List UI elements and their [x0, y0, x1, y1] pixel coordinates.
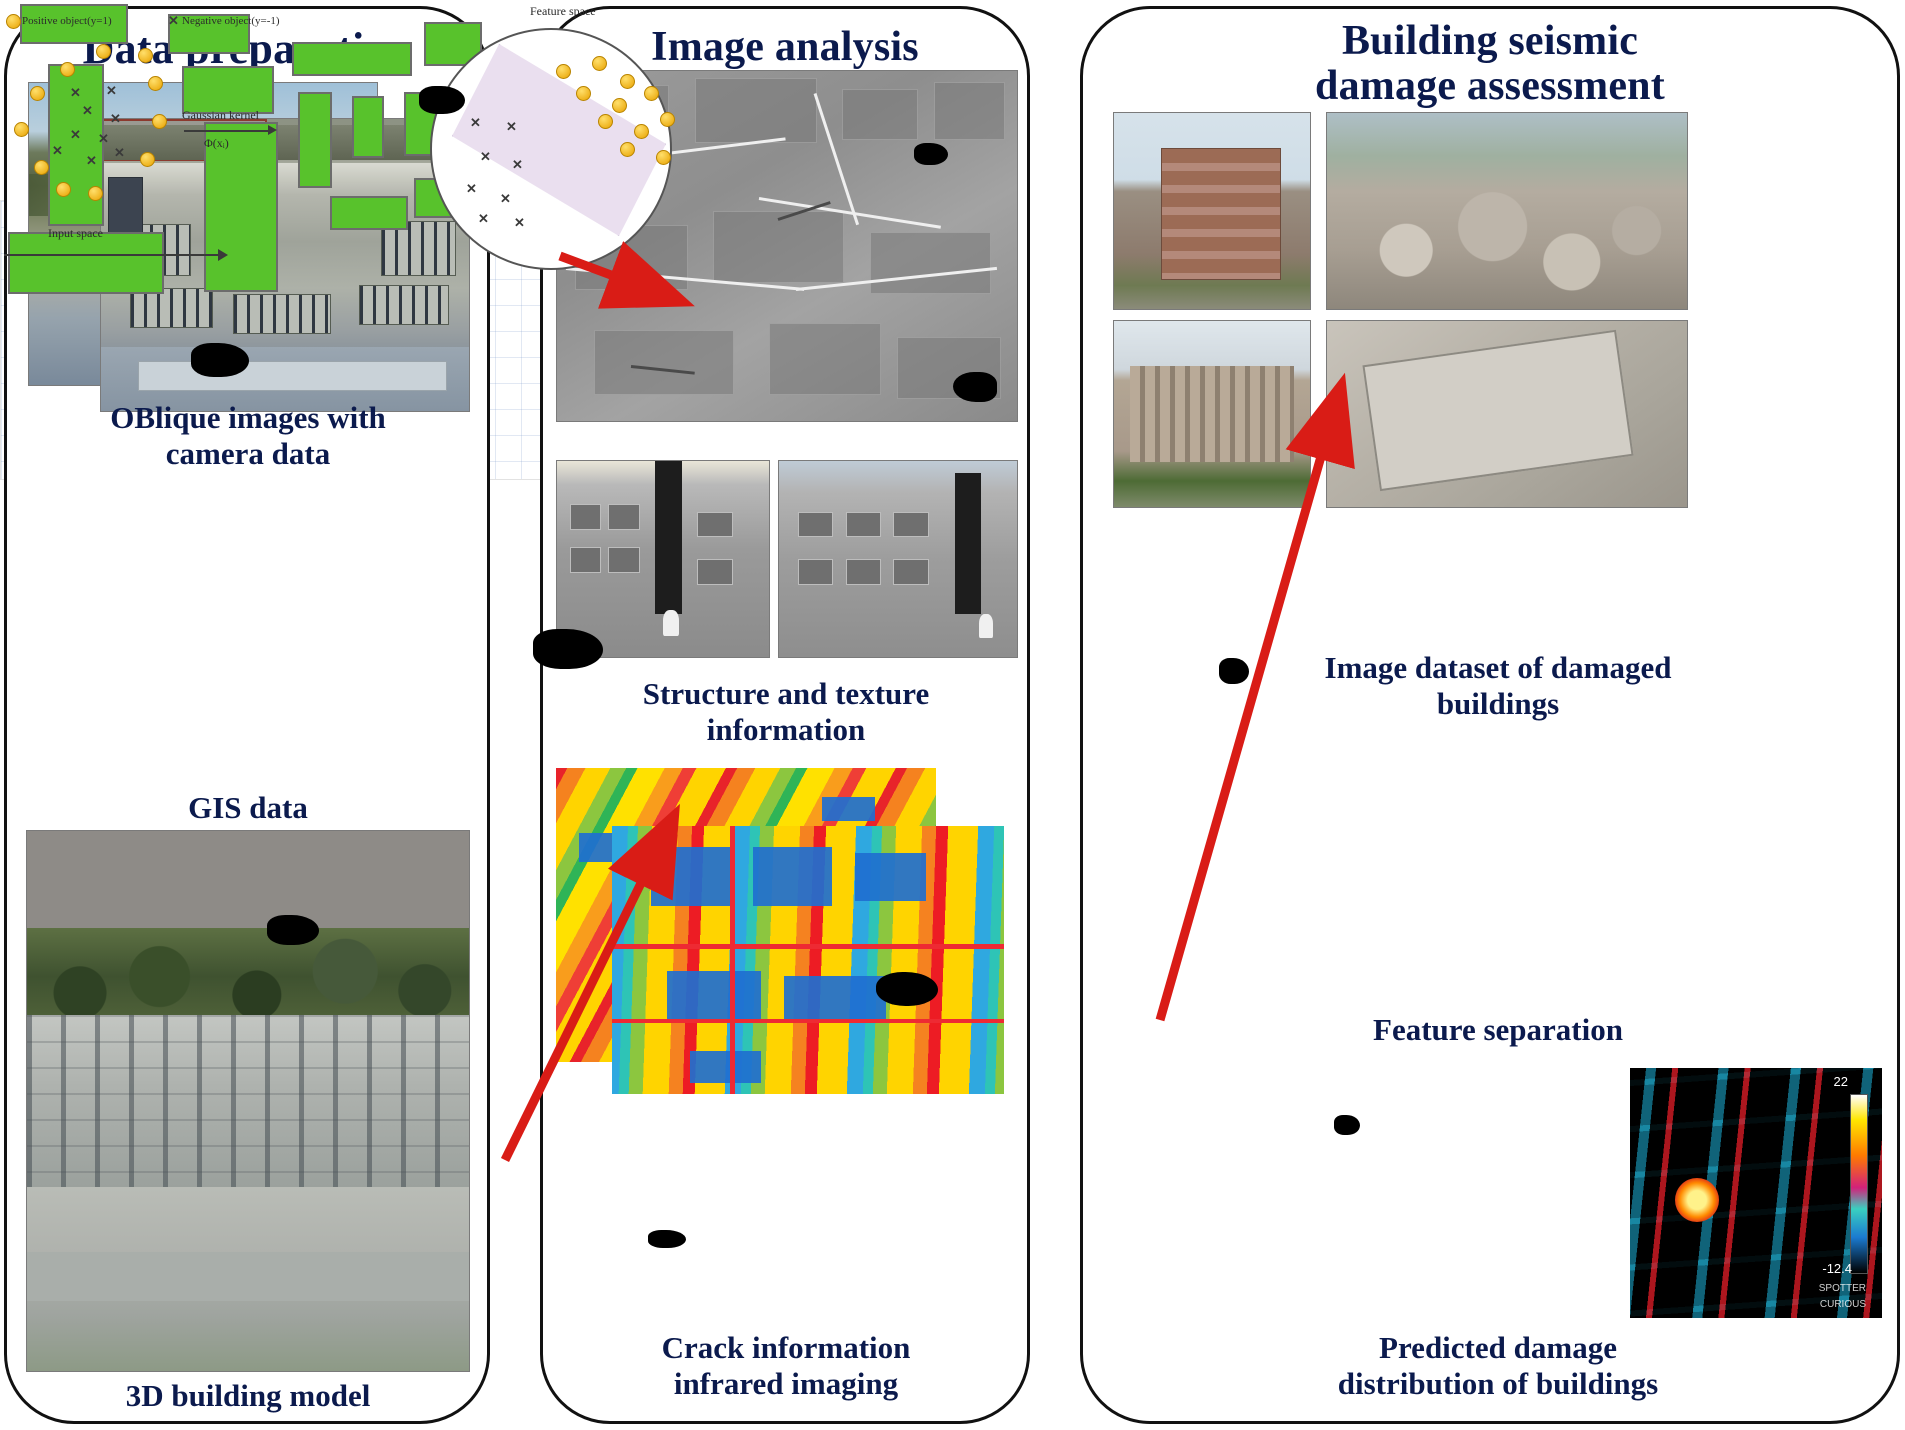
svm-feature-space-label: Feature space	[530, 4, 596, 19]
svm-input-space-label: Input space	[48, 226, 103, 241]
damaged-building-photo-1	[1113, 112, 1311, 310]
thermal-unit-line2: CURIOUS	[1820, 1299, 1866, 1310]
gis-building-polygon	[292, 42, 412, 76]
thermal-scale-min: -12.4	[1822, 1261, 1852, 1276]
caption-crack-infrared: Crack information infrared imaging	[556, 1330, 1016, 1402]
panel-title-damage-assessment: Building seismic damage assessment	[1083, 19, 1897, 110]
gis-building-polygon	[182, 66, 274, 114]
gis-building-polygon	[352, 96, 384, 158]
damaged-building-photo-4	[1326, 320, 1688, 508]
gis-building-polygon	[330, 196, 408, 230]
svm-legend-negative: Negative object(y=-1)	[182, 15, 280, 27]
caption-gis-data: GIS data	[30, 790, 466, 826]
caption-structure-texture: Structure and texture information	[556, 676, 1016, 748]
thermal-scale-max: 22	[1834, 1074, 1848, 1089]
damaged-building-photo-3	[1113, 320, 1311, 508]
texture-image-left	[556, 460, 770, 658]
caption-3d-building-model: 3D building model	[30, 1378, 466, 1414]
damaged-building-photo-2	[1326, 112, 1688, 310]
workflow-diagram: Data preparation OBlique images with cam…	[0, 0, 1905, 1430]
three-d-building-model	[26, 830, 470, 1372]
caption-feature-separation: Feature separation	[1118, 1012, 1878, 1048]
texture-image-right	[778, 460, 1018, 658]
thermal-colorbar	[1850, 1094, 1868, 1274]
svm-kernel-formula: Φ(xᵢ)	[204, 136, 229, 151]
infrared-crack-image-front	[612, 826, 1004, 1094]
caption-predicted-damage: Predicted damage distribution of buildin…	[1118, 1330, 1878, 1402]
thermal-unit-line1: SPOTTER	[1819, 1283, 1866, 1294]
caption-oblique-line1: OBlique images with camera data	[110, 400, 386, 471]
gis-building-polygon	[298, 92, 332, 188]
svm-kernel-label: Gaussian kernel	[182, 108, 259, 123]
svm-legend-positive: Positive object(y=1)	[22, 15, 112, 27]
predicted-damage-thermal-image: 22 -12.4 SPOTTER CURIOUS	[1630, 1068, 1882, 1318]
caption-oblique-images: OBlique images with camera data	[30, 400, 466, 472]
gis-building-polygon	[8, 232, 164, 294]
